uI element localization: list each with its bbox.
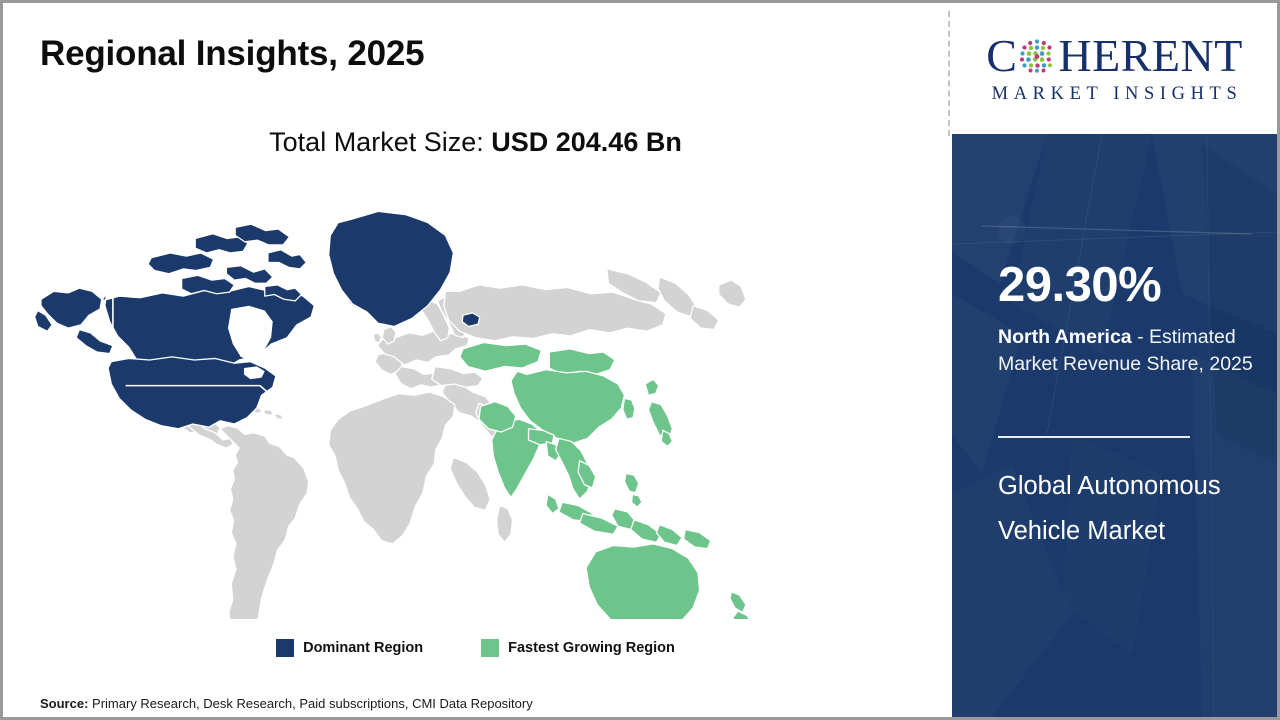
market-share-description: North America - Estimated Market Revenue… [998, 324, 1266, 378]
total-market-size-label: Total Market Size: [269, 127, 484, 157]
legend-item-dominant: Dominant Region [276, 639, 423, 657]
dominant-region-name: North America [998, 326, 1132, 348]
legend-label-fastest-growing: Fastest Growing Region [508, 640, 675, 656]
stats-content: 29.30% North America - Estimated Market … [998, 134, 1268, 717]
page-title: Regional Insights, 2025 [40, 34, 424, 74]
map-legend: Dominant Region Fastest Growing Region [3, 639, 948, 657]
source-label: Source: [40, 696, 88, 711]
logo-subtitle: MARKET INSIGHTS [987, 84, 1243, 105]
world-map-container [31, 189, 831, 619]
regional-insights-infographic: Regional Insights, 2025 Total Market Siz… [0, 0, 1280, 720]
source-note: Source: Primary Research, Desk Research,… [40, 696, 533, 711]
logo-letter-c: C [986, 33, 1017, 79]
stats-divider-rule [998, 436, 1190, 438]
globe-dots-icon [1017, 36, 1057, 76]
right-sidebar-panel: C [952, 3, 1277, 717]
legend-item-fastest-growing: Fastest Growing Region [481, 639, 675, 657]
logo-word-herent: HERENT [1058, 33, 1242, 79]
source-text: Primary Research, Desk Research, Paid su… [88, 696, 532, 711]
market-title: Global Autonomous Vehicle Market [998, 464, 1260, 555]
company-logo: C [952, 3, 1277, 134]
total-market-size-value: USD 204.46 Bn [491, 127, 682, 157]
legend-label-dominant: Dominant Region [303, 640, 423, 656]
total-market-size: Total Market Size: USD 204.46 Bn [3, 127, 948, 158]
panel-divider [948, 11, 950, 136]
map-region-fastest-growing-asia-pacific [460, 342, 757, 619]
market-share-percent: 29.30% [998, 261, 1161, 310]
stats-panel: 29.30% North America - Estimated Market … [952, 134, 1277, 717]
left-content-panel: Regional Insights, 2025 Total Market Siz… [3, 3, 948, 717]
world-map [31, 189, 831, 619]
logo-wordmark: C [986, 33, 1243, 79]
fastest-growing-region-swatch [481, 639, 499, 657]
dominant-region-swatch [276, 639, 294, 657]
